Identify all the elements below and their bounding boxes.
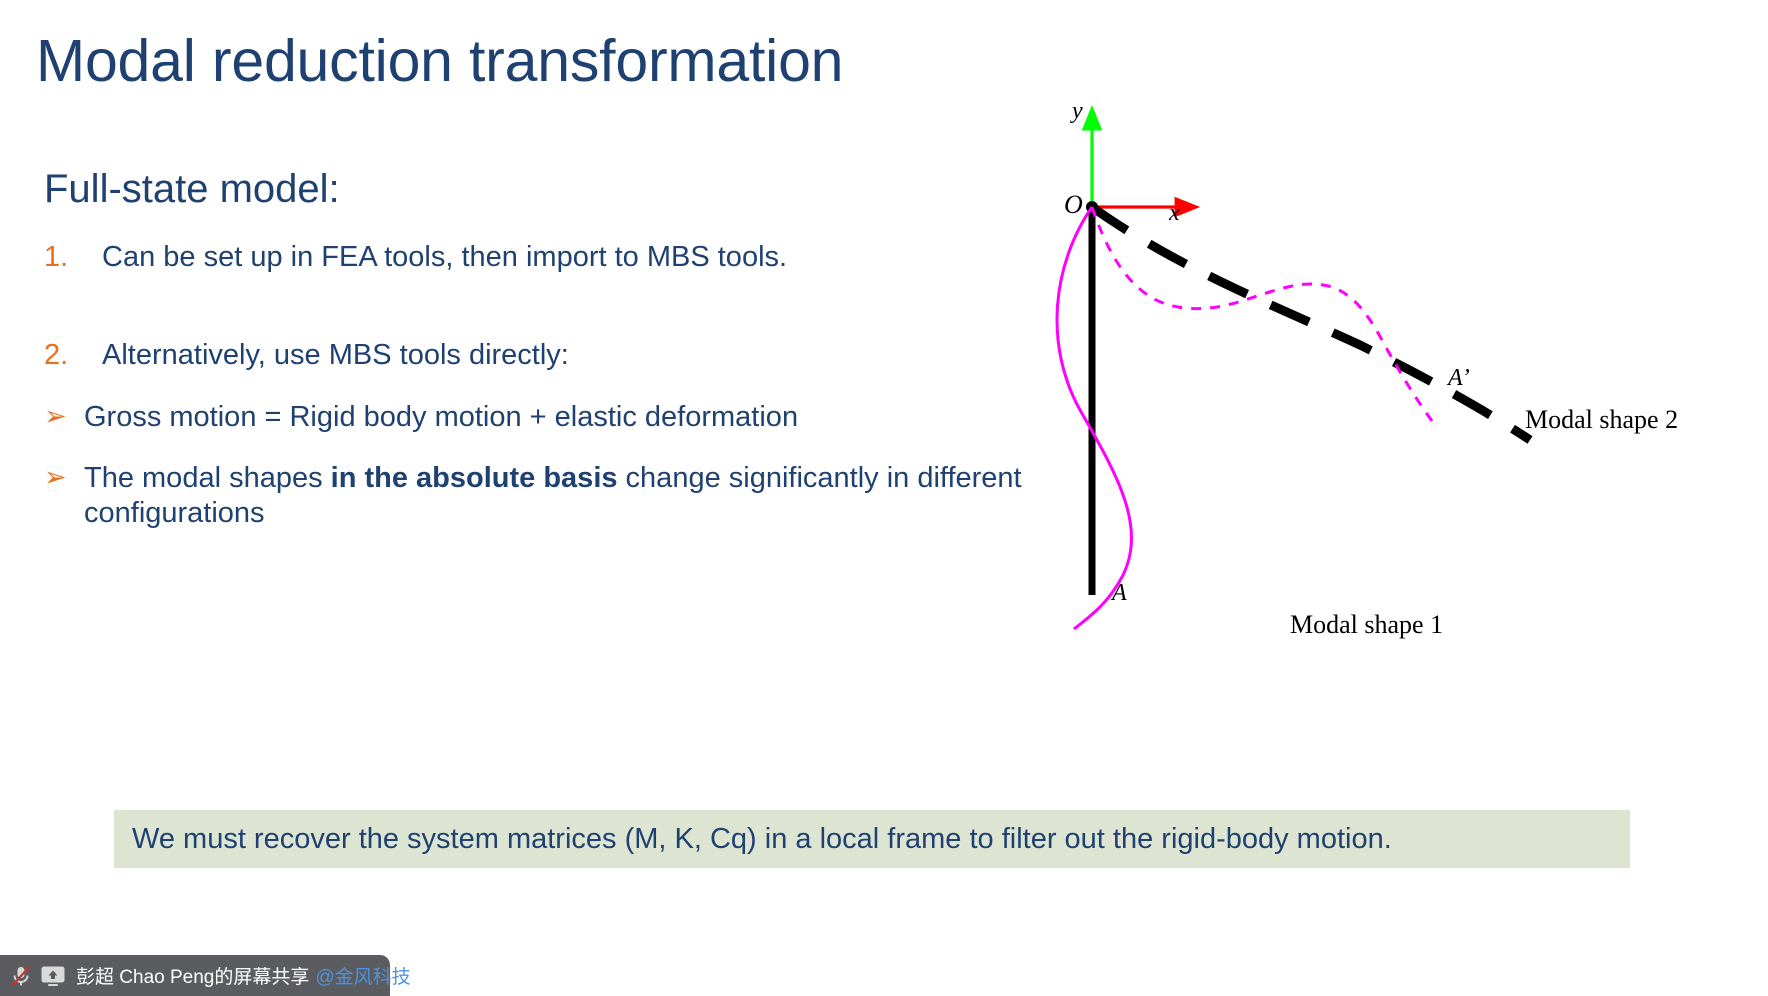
list-item-1-label: Can be set up in FEA tools, then import …: [102, 239, 1024, 275]
arrow-bullet-icon: ➢: [44, 461, 84, 495]
origin-label: O: [1064, 190, 1083, 220]
list-marker-2: 2.: [44, 337, 102, 373]
modal-shape-2-label: Modal shape 2: [1525, 405, 1678, 435]
page-title: Modal reduction transformation: [36, 30, 843, 94]
screen-share-icon[interactable]: [40, 965, 66, 987]
sub-bullet-1-label: Gross motion = Rigid body motion + elast…: [84, 400, 1024, 435]
sub-bullet-2: ➢ The modal shapes in the absolute basis…: [44, 461, 1024, 532]
sub-bullet-1: ➢ Gross motion = Rigid body motion + ela…: [44, 400, 1024, 435]
callout-band: We must recover the system matrices (M, …: [114, 810, 1630, 868]
screen-share-owner-label: 彭超 Chao Peng的屏幕共享: [76, 962, 309, 989]
list-item-1: 1. Can be set up in FEA tools, then impo…: [44, 239, 1024, 275]
list-item-2-label: Alternatively, use MBS tools directly:: [102, 337, 1024, 373]
sub-bullet-1-text: Gross motion = Rigid body motion + elast…: [84, 401, 798, 433]
content-column: Full-state model: 1. Can be set up in FE…: [44, 165, 1024, 532]
modal-shape-2-curve: [1092, 207, 1435, 425]
callout-text: We must recover the system matrices (M, …: [114, 823, 1392, 856]
list-marker-1: 1.: [44, 239, 102, 275]
slide-canvas: Modal reduction transformation Full-stat…: [0, 0, 1768, 996]
screen-share-taskbar[interactable]: 彭超 Chao Peng的屏幕共享 @金风科技: [0, 955, 390, 996]
axis-x-label: x: [1169, 200, 1180, 227]
list-spacer: [44, 435, 1024, 461]
deformed-beam-dashed: [1092, 207, 1530, 440]
list-spacer: [44, 275, 1024, 337]
modal-shape-1-label: Modal shape 1: [1290, 610, 1443, 640]
sub-bullet-2-label: The modal shapes in the absolute basis c…: [84, 461, 1024, 532]
screen-share-org-label: @金风科技: [315, 962, 410, 989]
point-a-label: A: [1112, 580, 1127, 607]
arrow-bullet-icon: ➢: [44, 400, 84, 434]
point-a-prime-label: A’: [1448, 365, 1470, 392]
list-item-2: 2. Alternatively, use MBS tools directly…: [44, 337, 1024, 373]
list-spacer: [44, 374, 1024, 400]
sub-bullet-2-text-bold: in the absolute basis: [331, 462, 618, 494]
sub-bullet-2-text-before: The modal shapes: [84, 462, 331, 494]
modal-shapes-diagram: Modal shape 2 Modal shape 1 O y x A A’: [1030, 95, 1768, 715]
axis-y-label: y: [1072, 98, 1083, 125]
section-subheading: Full-state model:: [44, 165, 1024, 213]
mic-muted-icon[interactable]: [8, 963, 34, 989]
